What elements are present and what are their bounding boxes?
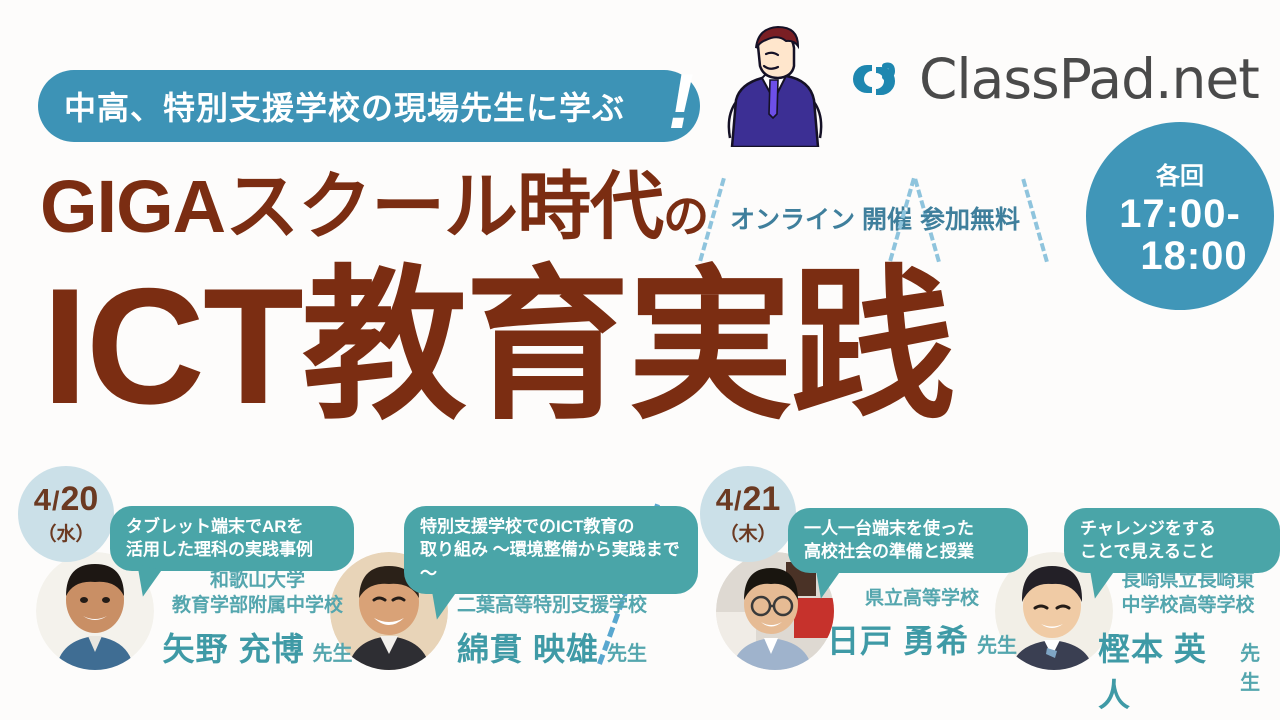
headline-main: GIGAスクール時代 <box>40 165 663 248</box>
speaker-info: 長崎県立長崎東 中学校高等学校 樫本 英人 先生 <box>1098 568 1278 716</box>
topic-bubble: チャレンジをする ことで見えること <box>1064 508 1280 573</box>
speaker-name: 日戸 勇希 <box>827 616 969 662</box>
speaker-name: 矢野 充博 <box>163 624 305 670</box>
speaker-honorific: 先生 <box>607 637 647 666</box>
date-badge-0420-date: 4/20 <box>34 482 99 516</box>
speaker-info: 和歌山大学 教育学部附属中学校 矢野 充博 先生 <box>150 568 365 670</box>
topic-text: チャレンジをする ことで見えること <box>1080 517 1264 564</box>
speaker-info: 県立高等学校 日戸 勇希 先生 <box>822 586 1022 662</box>
date-badge-0420-dow: （水） <box>37 519 94 546</box>
badge-free-label: 参加無料 <box>920 204 1020 236</box>
speaker-affiliation: 和歌山大学 教育学部附属中学校 <box>150 568 365 619</box>
headline-suffix: の <box>663 190 709 242</box>
speaker-honorific: 先生 <box>1240 637 1278 695</box>
tagline-text: 中高、特別支援学校の現場先生に学ぶ <box>64 83 625 129</box>
topic-bubble: 特別支援学校でのICT教育の 取り組み ～環境整備から実践まで～ <box>404 506 698 594</box>
speaker-affiliation: 県立高等学校 <box>822 586 1022 611</box>
page-title: ICT教育実践 <box>42 264 954 429</box>
speaker-name: 綿貫 映雄 <box>457 624 599 670</box>
slash-right-icon <box>1021 178 1051 263</box>
topic-text: 一人一台端末を使った 高校社会の準備と授業 <box>804 517 1012 564</box>
classpad-wordmark: ClassPad.net <box>919 52 1259 107</box>
session-time-label: 各回 <box>1156 156 1204 191</box>
topic-bubble: タブレット端末でARを 活用した理科の実践事例 <box>110 506 354 571</box>
teacher-illustration <box>690 22 840 147</box>
headline-line-1: GIGAスクール時代の <box>40 170 709 244</box>
speaker-name: 樫本 英人 <box>1098 624 1232 716</box>
date-badge-0421: 4/21 （木） <box>700 466 796 562</box>
date-badge-0421-date: 4/21 <box>716 482 781 516</box>
chain-link-icon <box>845 54 903 106</box>
topic-text: 特別支援学校でのICT教育の 取り組み ～環境整備から実践まで～ <box>420 515 682 585</box>
tagline-banner: 中高、特別支援学校の現場先生に学ぶ <box>38 70 700 142</box>
date-badge-0420: 4/20 （水） <box>18 466 114 562</box>
session-time-end: 18:00 <box>1112 235 1247 277</box>
classpad-logo: ClassPad.net <box>845 52 1259 107</box>
session-time-start: 17:00- <box>1119 193 1241 235</box>
topic-bubble: 一人一台端末を使った 高校社会の準備と授業 <box>788 508 1028 573</box>
topic-text: タブレット端末でARを 活用した理科の実践事例 <box>126 515 338 562</box>
speaker-honorific: 先生 <box>312 637 352 666</box>
badge-online-label: オンライン 開催 <box>730 204 912 236</box>
poster-canvas: 中高、特別支援学校の現場先生に学ぶ ! ClassPad.net 各回 <box>0 0 1280 720</box>
session-time-badge: 各回 17:00- 18:00 <box>1086 122 1274 310</box>
speaker-affiliation: 長崎県立長崎東 中学校高等学校 <box>1098 568 1278 619</box>
date-badge-0421-dow: （木） <box>719 519 776 546</box>
speaker-honorific: 先生 <box>977 629 1017 658</box>
